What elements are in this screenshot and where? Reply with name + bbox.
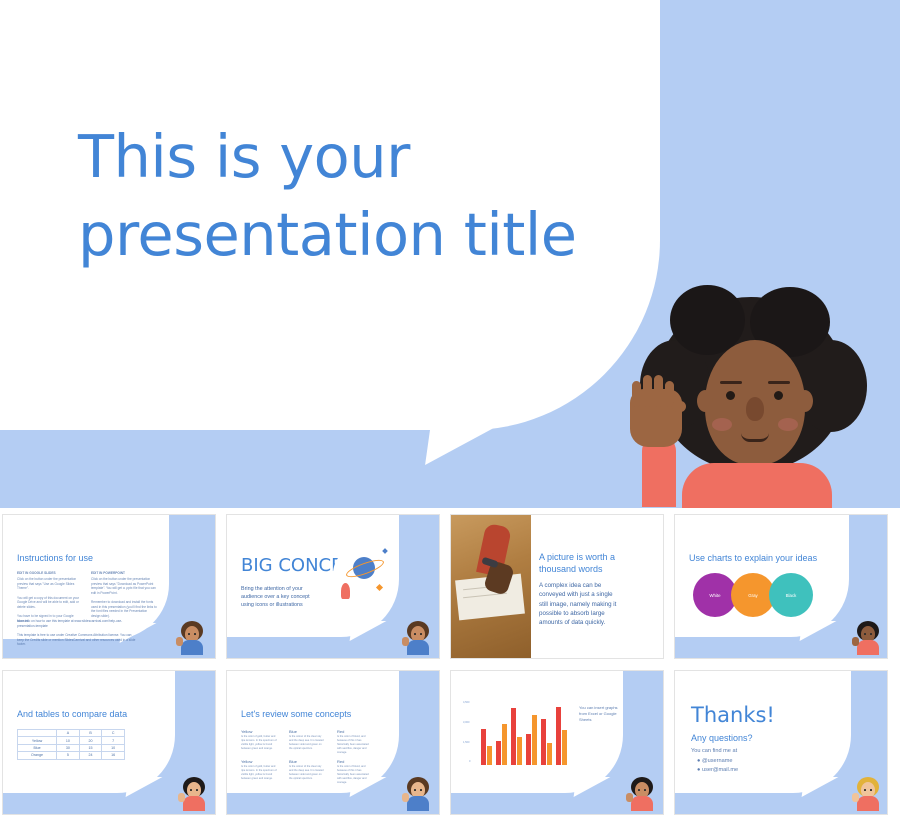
row-label: Blue xyxy=(18,744,57,751)
concept-text: Is the color of gold, butter and ripe le… xyxy=(241,765,277,781)
concept-text: Is the colour of the clear sky and the d… xyxy=(289,765,325,781)
cell: 7 xyxy=(102,737,125,744)
venn-label: White xyxy=(709,593,720,598)
presentation-template-preview: This is your presentation title xyxy=(0,0,900,819)
thumbnail-picture-worth[interactable]: A picture is worth a thousand words A co… xyxy=(450,514,664,659)
cell: 30 xyxy=(57,744,80,751)
page-title: This is your presentation title xyxy=(78,118,598,274)
slide-subtitle: Any questions? xyxy=(691,733,753,743)
thumbnail-instructions[interactable]: Instructions for use EDIT IN GOOGLE SLID… xyxy=(2,514,216,659)
thumbnail-big-concept[interactable]: BIG CONCEPT Bring the attention of your … xyxy=(226,514,440,659)
row-label: Yellow xyxy=(18,737,57,744)
bar-red xyxy=(556,707,561,765)
concept-heading: Yellow xyxy=(241,729,252,734)
avatar xyxy=(855,777,881,811)
find-me-label: You can find me at xyxy=(691,747,737,755)
instructions-col2-text: Click on the button under the presentati… xyxy=(91,577,157,619)
avatar xyxy=(855,621,881,655)
slide-thumbnail-grid: Instructions for use EDIT IN GOOGLE SLID… xyxy=(0,512,900,819)
venn-circle-black: Black xyxy=(769,573,813,617)
contact-username: ● @username xyxy=(697,757,733,765)
table-col-0 xyxy=(18,730,57,737)
table-col-3: C xyxy=(102,730,125,737)
cell: 5 xyxy=(57,752,80,759)
bullet-icon: ● xyxy=(697,767,700,773)
table-col-1: A xyxy=(57,730,80,737)
concept-text: Is the color of blood, and because of th… xyxy=(337,735,373,754)
slide-title: Thanks! xyxy=(691,703,775,727)
avatar xyxy=(405,621,431,655)
girl-illustration xyxy=(600,285,900,508)
row-label: Orange xyxy=(18,752,57,759)
slide-title: A picture is worth a thousand words xyxy=(539,551,619,575)
avatar xyxy=(181,777,207,811)
thumb-speech-bubble xyxy=(675,671,851,793)
venn-label: Gray xyxy=(748,593,758,598)
bar-orange xyxy=(502,724,507,765)
table-row: Yellow 10 20 7 xyxy=(18,737,125,744)
concept-heading: Red xyxy=(337,729,344,734)
cell: 16 xyxy=(102,752,125,759)
y-tick-label: 3,000 xyxy=(463,721,470,724)
bar-chart: 4,500 3,000 1,500 0 xyxy=(477,703,569,765)
bar-orange xyxy=(562,730,567,765)
table-header-row: A B C xyxy=(18,730,125,737)
cell: 10 xyxy=(57,737,80,744)
instructions-col1-text: Click on the button under the presentati… xyxy=(17,577,83,623)
bar-red xyxy=(511,708,516,765)
bar-red xyxy=(481,729,486,765)
instructions-col1-heading: EDIT IN GOOGLE SLIDES xyxy=(17,571,56,576)
thumbnail-thanks[interactable]: Thanks! Any questions? You can find me a… xyxy=(674,670,888,815)
bar-red xyxy=(541,719,546,765)
concept-text: Is the color of blood, and because of th… xyxy=(337,765,373,784)
venn-label: Black xyxy=(786,593,797,598)
bar-orange xyxy=(547,743,552,765)
hero-slide: This is your presentation title xyxy=(0,0,900,508)
cell: 24 xyxy=(79,752,102,759)
concept-text: Is the colour of the clear sky and the d… xyxy=(289,735,325,751)
instructions-col2-heading: EDIT IN POWERPOINT xyxy=(91,571,125,576)
avatar xyxy=(179,621,205,655)
concept-heading: Blue xyxy=(289,729,297,734)
bar-orange xyxy=(532,715,537,765)
table-row: Blue 30 15 10 xyxy=(18,744,125,751)
hero-speech-bubble-tail xyxy=(425,395,555,465)
rocket-icon xyxy=(341,583,350,599)
slide-title: And tables to compare data xyxy=(17,709,127,719)
thumbnail-review-concepts[interactable]: Let's review some concepts Yellow Is the… xyxy=(226,670,440,815)
avatar xyxy=(629,777,655,811)
table-col-2: B xyxy=(79,730,102,737)
concept-heading: Blue xyxy=(289,759,297,764)
thumbnail-tables[interactable]: And tables to compare data A B C Yellow … xyxy=(2,670,216,815)
bar-red xyxy=(496,741,501,765)
comparison-table: A B C Yellow 10 20 7 Blue 30 15 10 O xyxy=(17,729,125,760)
slide-title: Let's review some concepts xyxy=(241,709,351,719)
bar-orange xyxy=(517,737,522,765)
bar-orange xyxy=(487,746,492,765)
big-concept-body: Bring the attention of your audience ove… xyxy=(241,585,323,609)
concept-heading: Yellow xyxy=(241,759,252,764)
bullet-icon: ● xyxy=(697,758,700,764)
y-tick-label: 0 xyxy=(469,760,470,763)
thumbnail-charts-slide[interactable]: 4,500 3,000 1,500 0 xyxy=(450,670,664,815)
avatar xyxy=(405,777,431,811)
concept-heading: Red xyxy=(337,759,344,764)
instructions-footer: More info on how to use this template at… xyxy=(17,619,137,647)
picture-body: A complex idea can be conveyed with just… xyxy=(539,581,623,627)
slide-title: Instructions for use xyxy=(17,553,93,563)
cell: 10 xyxy=(102,744,125,751)
contact-email: ● user@mail.me xyxy=(697,766,738,774)
y-tick-label: 4,500 xyxy=(463,701,470,704)
chart-note: You can insert graphs from Excel or Goog… xyxy=(579,705,619,722)
thumbnail-charts-ideas[interactable]: Use charts to explain your ideas White G… xyxy=(674,514,888,659)
cell: 15 xyxy=(79,744,102,751)
concept-text: Is the color of gold, butter and ripe le… xyxy=(241,735,277,751)
bar-red xyxy=(526,734,531,765)
cell: 20 xyxy=(79,737,102,744)
photo-desk xyxy=(451,515,531,659)
table-row: Orange 5 24 16 xyxy=(18,752,125,759)
y-tick-label: 1,500 xyxy=(463,741,470,744)
slide-title: Use charts to explain your ideas xyxy=(689,553,817,563)
